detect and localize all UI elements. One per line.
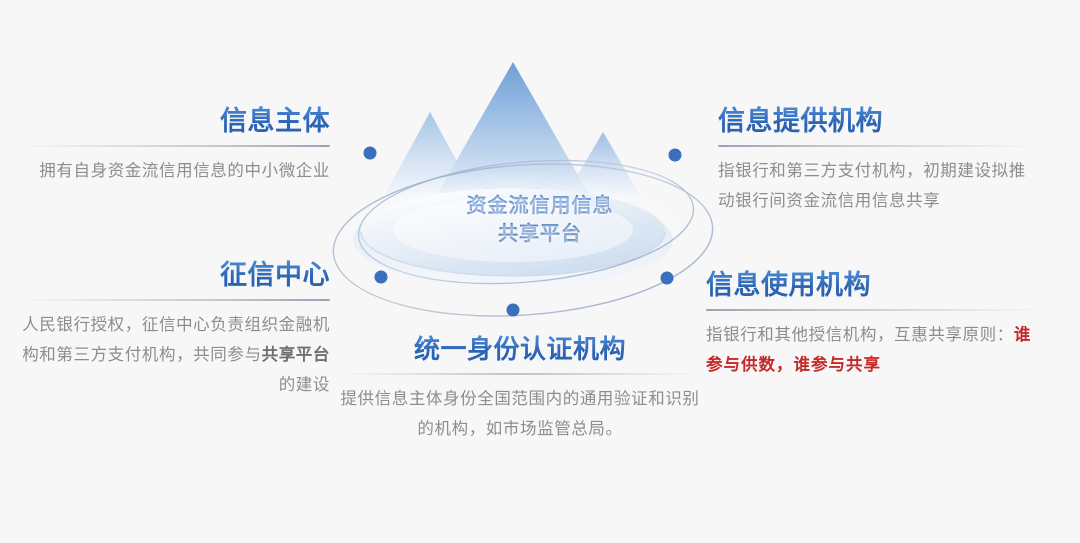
block-text-information-subject: 拥有自身资金流信用信息的中小微企业: [18, 156, 330, 186]
title-underline: [706, 309, 1046, 311]
block-text-credit-reference-center: 人民银行授权，征信中心负责组织金融机构和第三方支付机构，共同参与共享平台的建设: [18, 310, 330, 400]
title-underline: [718, 145, 1038, 147]
block-information-subject: 信息主体 拥有自身资金流信用信息的中小微企业: [18, 104, 330, 186]
platform-title-line-1: 资金流信用信息: [330, 192, 750, 220]
block-title-information-provider: 信息提供机构: [718, 104, 1038, 138]
block-title-identity-authentication: 统一身份认证机构: [340, 332, 700, 366]
block-title-information-user: 信息使用机构: [706, 268, 1046, 302]
block-information-user: 信息使用机构 指银行和其他授信机构，互惠共享原则：谁参与供数，谁参与共享: [706, 268, 1046, 380]
title-underline: [18, 145, 330, 147]
block-credit-reference-center: 征信中心 人民银行授权，征信中心负责组织金融机构和第三方支付机构，共同参与共享平…: [18, 258, 330, 400]
orbit-node-bottom-right: [661, 272, 674, 285]
diagram-canvas: 资金流信用信息 共享平台 信息主体 拥有自身资金流信用信息的中小微企业 征信中心…: [0, 0, 1080, 543]
orbit-node-bottom-left: [375, 271, 388, 284]
title-underline: [18, 299, 330, 301]
platform-title: 资金流信用信息 共享平台: [330, 192, 750, 248]
title-underline: [340, 373, 700, 375]
block-information-provider: 信息提供机构 指银行和第三方支付机构，初期建设拟推动银行间资金流信用信息共享: [718, 104, 1038, 216]
center-graphic: 资金流信用信息 共享平台: [330, 40, 750, 340]
orbit-node-bottom-center: [507, 304, 520, 317]
text-segment-plain-2: 的建设: [279, 375, 330, 394]
block-identity-authentication: 统一身份认证机构 提供信息主体身份全国范围内的通用验证和识别的机构，如市场监管总…: [340, 332, 700, 444]
block-title-information-subject: 信息主体: [18, 104, 330, 138]
block-text-identity-authentication: 提供信息主体身份全国范围内的通用验证和识别的机构，如市场监管总局。: [340, 384, 700, 444]
orbit-node-top-left: [364, 147, 377, 160]
platform-title-line-2: 共享平台: [330, 220, 750, 248]
block-title-credit-reference-center: 征信中心: [18, 258, 330, 292]
text-segment-plain: 指银行和其他授信机构，互惠共享原则：: [706, 325, 1014, 344]
text-segment-bold: 共享平台: [262, 345, 330, 364]
block-text-information-provider: 指银行和第三方支付机构，初期建设拟推动银行间资金流信用信息共享: [718, 156, 1038, 216]
orbit-node-top-right: [669, 149, 682, 162]
block-text-information-user: 指银行和其他授信机构，互惠共享原则：谁参与供数，谁参与共享: [706, 320, 1046, 380]
